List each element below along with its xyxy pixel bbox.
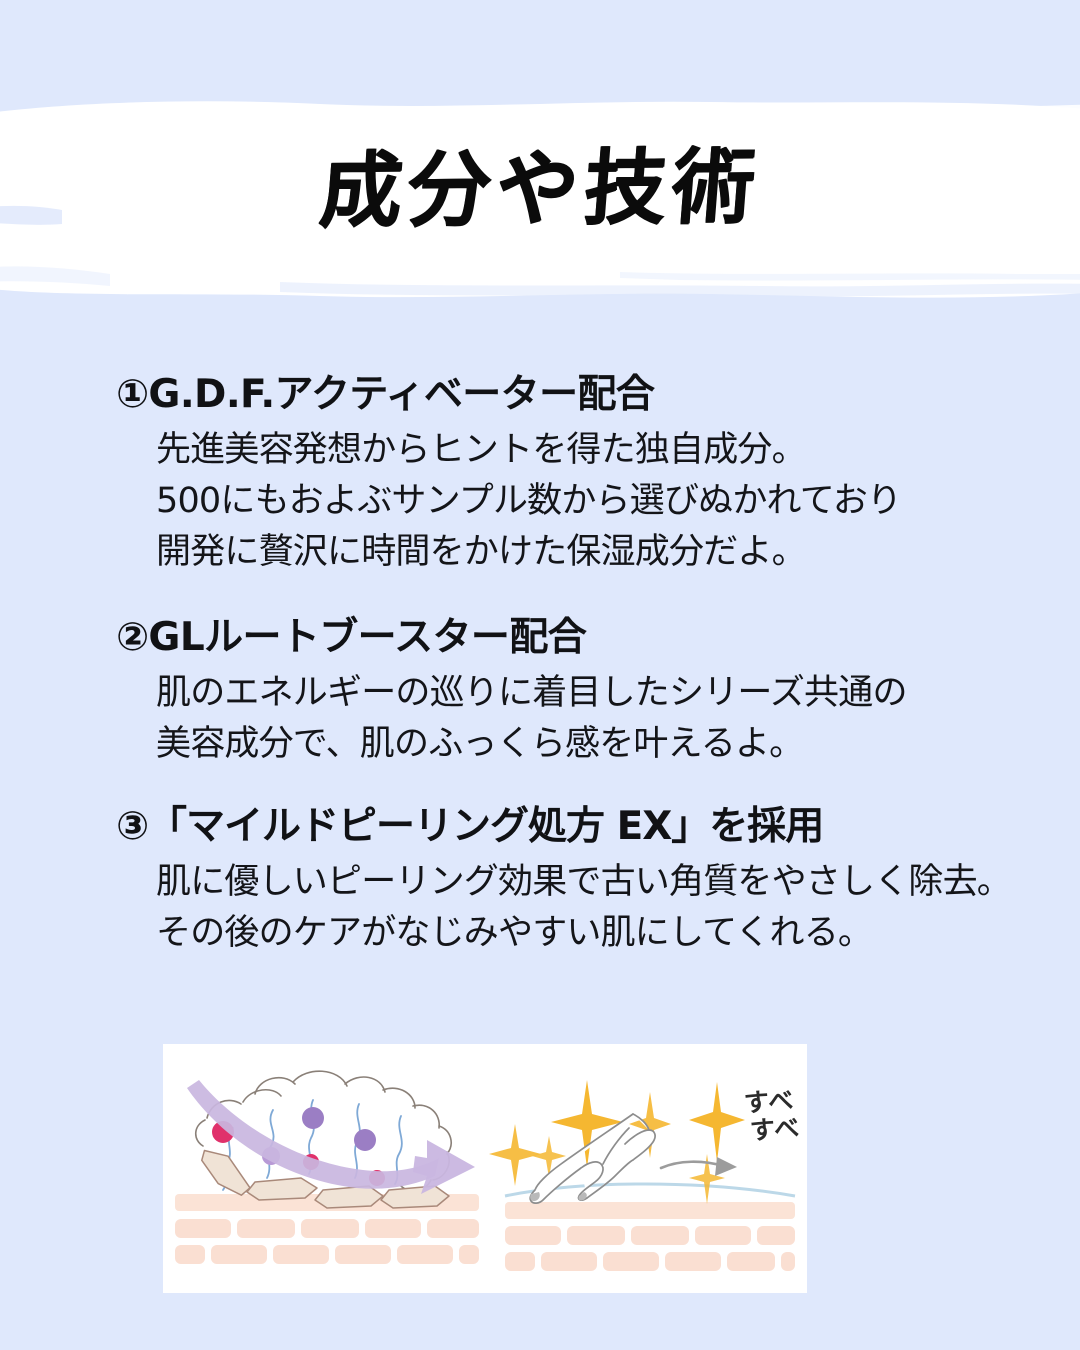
section-body: 肌のエネルギーの巡りに着目したシリーズ共通の 美容成分で、肌のふっくら感を叶える… xyxy=(0,668,1080,770)
section-heading: ③「マイルドピーリング処方 EX」を採用 xyxy=(0,804,1080,849)
body-line: 美容成分で、肌のふっくら感を叶えるよ。 xyxy=(156,719,1080,770)
page-title-wrap: 成分や技術 xyxy=(0,130,1080,250)
body-line: 肌に優しいピーリング効果で古い角質をやさしく除去。 xyxy=(156,857,1080,908)
section-body: 先進美容発想からヒントを得た独自成分。 500にもおよぶサンプル数から選びぬかれ… xyxy=(0,425,1080,578)
section-heading: ①G.D.F.アクティベーター配合 xyxy=(0,372,1080,417)
body-line: その後のケアがなじみやすい肌にしてくれる。 xyxy=(156,908,1080,959)
body-line: 肌のエネルギーの巡りに着目したシリーズ共通の xyxy=(156,668,1080,719)
section-gl-root-booster: ②GLルートブースター配合 肌のエネルギーの巡りに着目したシリーズ共通の 美容成… xyxy=(0,615,1080,770)
section-gdf-activator: ①G.D.F.アクティベーター配合 先進美容発想からヒントを得た独自成分。 50… xyxy=(0,372,1080,579)
sube-line: すべ xyxy=(749,1114,801,1145)
sections-list: ①G.D.F.アクティベーター配合 先進美容発想からヒントを得た独自成分。 50… xyxy=(0,372,1080,959)
skin-peeling-illustration: すべ すべ xyxy=(163,1044,807,1293)
body-line: 先進美容発想からヒントを得た独自成分。 xyxy=(156,425,1080,476)
section-heading: ②GLルートブースター配合 xyxy=(0,615,1080,660)
page-title: 成分や技術 xyxy=(317,147,764,234)
section-body: 肌に優しいピーリング効果で古い角質をやさしく除去。 その後のケアがなじみやすい肌… xyxy=(0,857,1080,959)
body-line: 開発に贅沢に時間をかけた保湿成分だよ。 xyxy=(156,527,1080,578)
motion-arrow xyxy=(661,1157,737,1176)
sube-sube-handwriting: すべ すべ xyxy=(743,1086,801,1146)
body-line: 500にもおよぶサンプル数から選びぬかれており xyxy=(156,476,1080,527)
section-mild-peeling-ex: ③「マイルドピーリング処方 EX」を採用 肌に優しいピーリング効果で古い角質をや… xyxy=(0,804,1080,959)
infographic-page: 成分や技術 ①G.D.F.アクティベーター配合 先進美容発想からヒントを得た独自… xyxy=(0,0,1080,1350)
